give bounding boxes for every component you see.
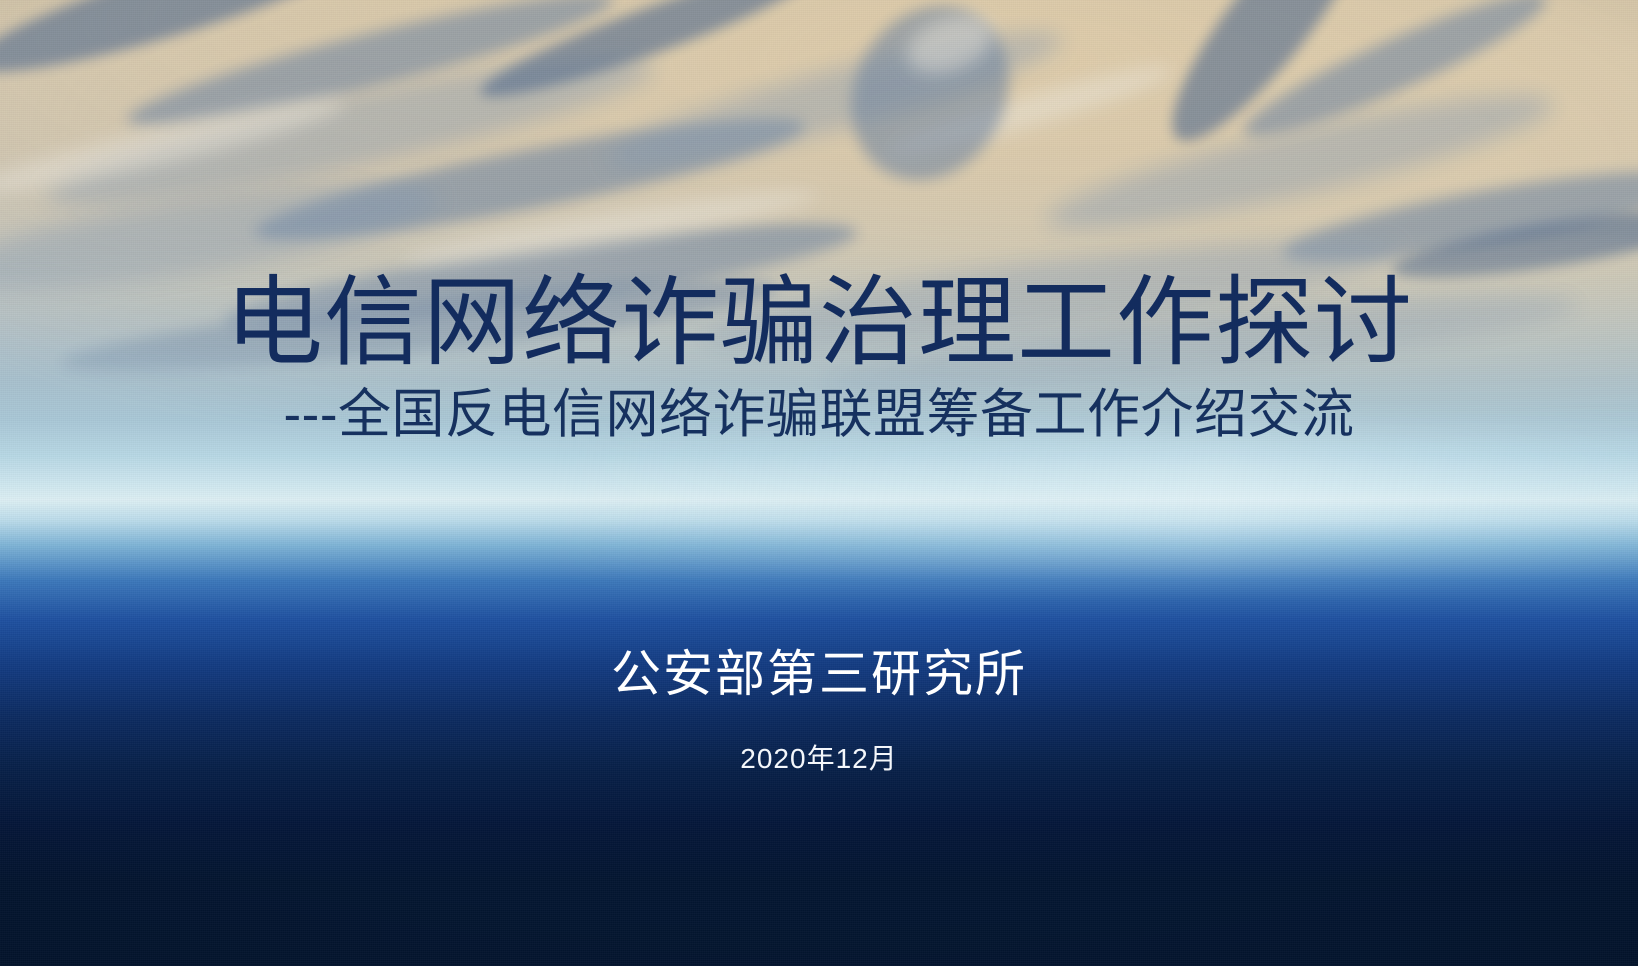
slide-subtitle: ---全国反电信网络诈骗联盟筹备工作介绍交流	[0, 386, 1638, 444]
slide-title: 电信网络诈骗治理工作探讨	[0, 268, 1638, 378]
byline-block: 公安部第三研究所 2020年12月	[0, 645, 1638, 776]
title-block: 电信网络诈骗治理工作探讨 ---全国反电信网络诈骗联盟筹备工作介绍交流	[0, 268, 1638, 444]
presentation-date: 2020年12月	[0, 742, 1638, 776]
organization-name: 公安部第三研究所	[0, 645, 1638, 704]
slide-content: 电信网络诈骗治理工作探讨 ---全国反电信网络诈骗联盟筹备工作介绍交流 公安部第…	[0, 0, 1638, 966]
title-slide: 电信网络诈骗治理工作探讨 ---全国反电信网络诈骗联盟筹备工作介绍交流 公安部第…	[0, 0, 1638, 966]
